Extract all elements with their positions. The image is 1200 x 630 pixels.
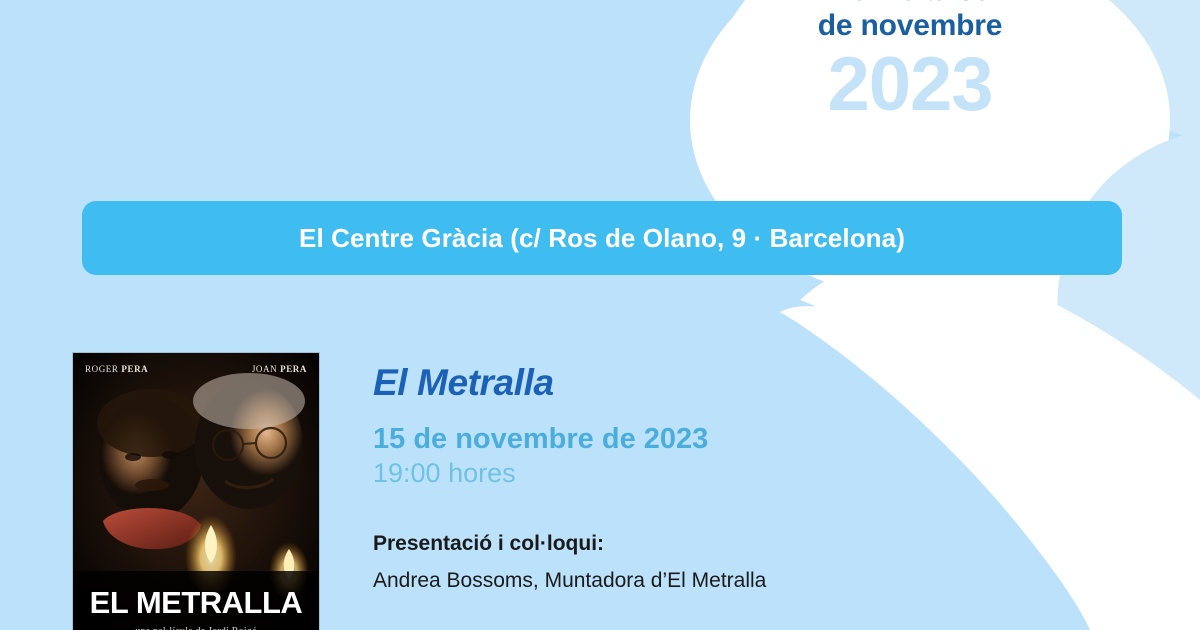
- event-poster: Del 15 al 30 de novembre 2023 El Centre …: [0, 0, 1200, 630]
- venue-label: El Centre Gràcia (c/ Ros de Olano, 9 · B…: [299, 223, 905, 254]
- poster-credit-text: una pel·lícula de Jordi Roigé: [73, 626, 319, 630]
- cast-left-first: ROGER: [85, 364, 119, 374]
- poster-cast-line: ROGER PERA JOAN PERA: [73, 364, 319, 374]
- poster-title-text: EL METRALLA: [73, 585, 319, 621]
- cast-right: JOAN PERA: [252, 364, 307, 374]
- film-info-block: El Metralla 15 de novembre de 2023 19:00…: [373, 363, 1093, 593]
- year-text: 2023: [760, 48, 1060, 122]
- date-month-text: de novembre: [760, 9, 1060, 44]
- film-title: El Metralla: [373, 363, 1093, 404]
- event-date-block: Del 15 al 30 de novembre 2023: [760, 0, 1060, 122]
- date-range-text: Del 15 al 30: [760, 0, 1060, 9]
- venue-banner: El Centre Gràcia (c/ Ros de Olano, 9 · B…: [82, 201, 1122, 275]
- cast-left: ROGER PERA: [85, 364, 148, 374]
- film-date: 15 de novembre de 2023: [373, 423, 1093, 455]
- cast-right-first: JOAN: [252, 364, 277, 374]
- talk-heading: Presentació i col·loqui:: [373, 532, 1093, 556]
- cast-right-last: PERA: [280, 364, 307, 374]
- talk-person: Andrea Bossoms, Muntadora d’El Metralla: [373, 569, 1093, 593]
- film-time: 19:00 hores: [373, 458, 1093, 488]
- cast-left-last: PERA: [121, 364, 148, 374]
- film-poster-image[interactable]: ROGER PERA JOAN PERA EL METRALLA una pel…: [73, 353, 319, 630]
